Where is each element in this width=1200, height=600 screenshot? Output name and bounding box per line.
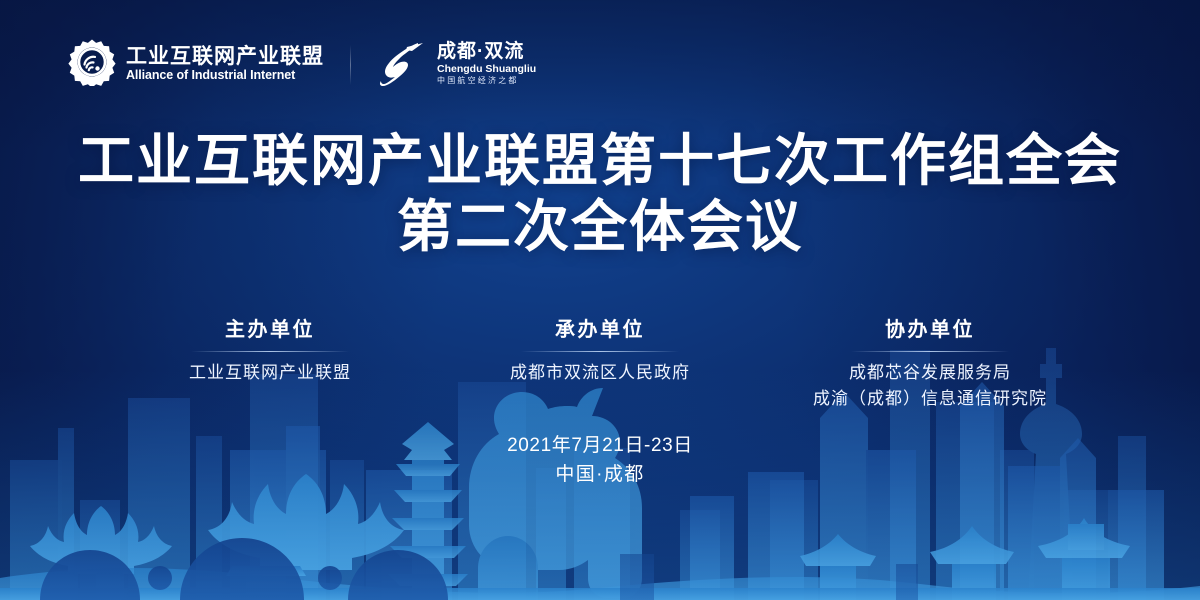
- organizer-coorganizer-role: 协办单位: [790, 318, 1070, 342]
- swoosh-airplane-icon: [377, 38, 427, 91]
- organizer-coorganizer-rule: [851, 351, 1009, 352]
- logo-shuangliu-text: 成都·双流 Chengdu Shuangliu 中国航空经济之都: [437, 42, 536, 86]
- organizer-undertaker-rule: [521, 351, 679, 352]
- organizer-section: 主办单位 工业互联网产业联盟 承办单位 成都市双流区人民政府 协办单位 成都芯谷…: [130, 318, 1070, 413]
- logo-alliance-of-industrial-internet: 工业互联网产业联盟 Alliance of Industrial Interne…: [68, 38, 324, 91]
- logo-row: 工业互联网产业联盟 Alliance of Industrial Interne…: [68, 38, 536, 91]
- logo-shuangliu-name-en: Chengdu Shuangliu: [437, 63, 536, 76]
- organizer-coorganizer-unit-2: 成渝（成都）信息通信研究院: [790, 386, 1070, 412]
- organizer-undertaker: 承办单位 成都市双流区人民政府: [460, 318, 740, 386]
- banner-title-line-1: 工业互联网产业联盟第十七次工作组全会: [0, 128, 1200, 194]
- organizer-host-rule: [191, 351, 349, 352]
- organizer-coorganizer: 协办单位 成都芯谷发展服务局 成渝（成都）信息通信研究院: [790, 318, 1070, 413]
- logo-shuangliu-name-cn: 成都·双流: [437, 42, 536, 63]
- banner-title-line-2: 第二次全体会议: [0, 194, 1200, 260]
- logo-alliance-text: 工业互联网产业联盟 Alliance of Industrial Interne…: [126, 45, 324, 84]
- banner-title: 工业互联网产业联盟第十七次工作组全会 第二次全体会议: [0, 128, 1200, 259]
- organizer-host-unit-1: 工业互联网产业联盟: [130, 360, 410, 386]
- logo-alliance-name-cn: 工业互联网产业联盟: [126, 45, 324, 69]
- logo-separator: [350, 45, 351, 85]
- logo-shuangliu-tagline: 中国航空经济之都: [437, 76, 536, 86]
- conference-banner: 工业互联网产业联盟 Alliance of Industrial Interne…: [0, 0, 1200, 600]
- organizer-host: 主办单位 工业互联网产业联盟: [130, 318, 410, 386]
- organizer-undertaker-unit-1: 成都市双流区人民政府: [460, 360, 740, 386]
- organizer-host-role: 主办单位: [130, 318, 410, 342]
- event-details: 2021年7月21日-23日 中国·成都: [0, 432, 1200, 489]
- logo-chengdu-shuangliu: 成都·双流 Chengdu Shuangliu 中国航空经济之都: [377, 38, 536, 91]
- event-location: 中国·成都: [0, 461, 1200, 490]
- event-date: 2021年7月21日-23日: [0, 432, 1200, 461]
- gear-wifi-icon: [68, 38, 116, 91]
- organizer-coorganizer-unit-1: 成都芯谷发展服务局: [790, 360, 1070, 386]
- logo-alliance-name-en: Alliance of Industrial Internet: [126, 68, 324, 84]
- organizer-undertaker-role: 承办单位: [460, 318, 740, 342]
